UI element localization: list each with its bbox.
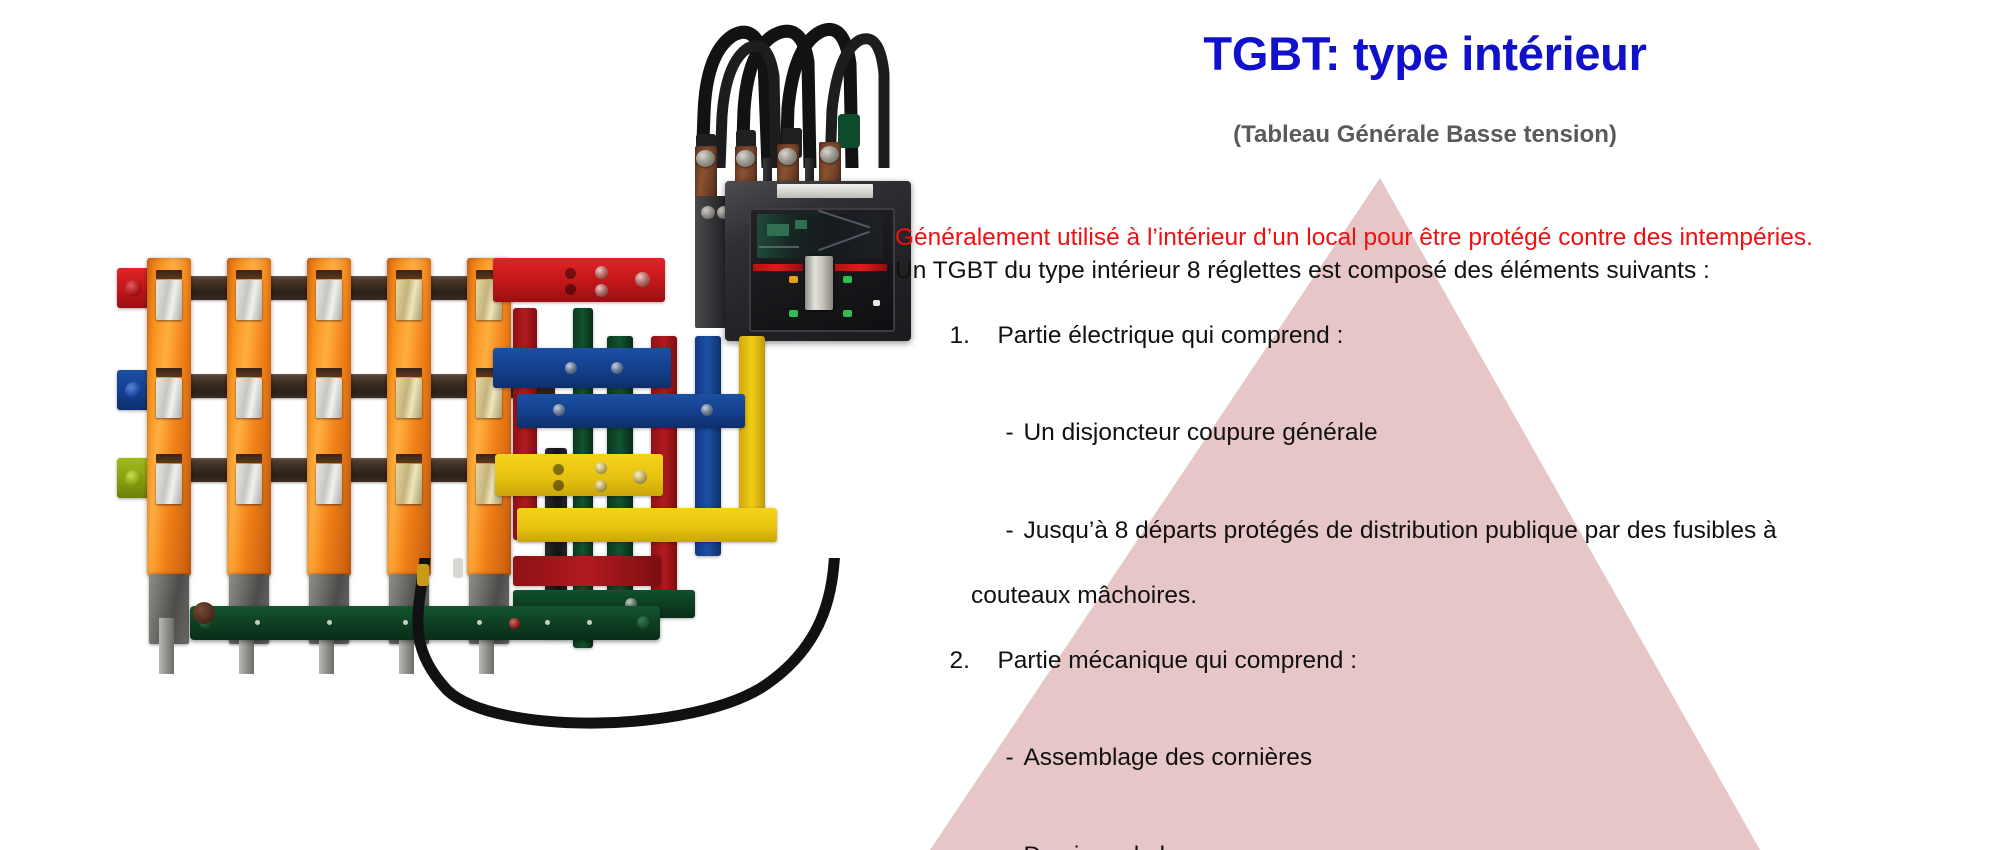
- body-sub-item-1b-continuation: couteaux mâchoires.: [895, 580, 1925, 613]
- hanging-cable-icon: [395, 558, 855, 738]
- fuse-clip: [236, 454, 262, 463]
- breaker-green-led: [843, 276, 852, 283]
- fuse-cartridge: [156, 464, 182, 504]
- fuse-clip: [156, 270, 182, 279]
- busbar-bolt: [565, 362, 577, 374]
- busbar-bolt: [553, 404, 565, 416]
- list-text: Jusqu’à 8 départs protégés de distributi…: [1023, 517, 1776, 544]
- busbar-bolt: [633, 470, 647, 484]
- breaker-trip-unit-label: [757, 214, 883, 258]
- fuse-cartridge: [316, 280, 342, 320]
- breaker-trace: [759, 246, 799, 248]
- phase-tab-green-yellow-knob: [125, 470, 142, 487]
- fuse-clip: [236, 368, 262, 377]
- breaker-green-led: [789, 310, 798, 317]
- text-column: TGBT: type intérieur (Tableau Générale B…: [880, 0, 1970, 850]
- list-text: Un disjoncteur coupure générale: [1023, 419, 1377, 446]
- fuse-clip: [316, 368, 342, 377]
- busbar-bolt: [611, 362, 623, 374]
- busbar-bolt: [595, 266, 608, 279]
- list-marker: -: [1005, 840, 1023, 850]
- page-subtitle: (Tableau Générale Basse tension): [880, 122, 1970, 148]
- list-marker: -: [1005, 417, 1023, 450]
- fuse-cartridge: [236, 378, 262, 418]
- fuse-cartridge: [396, 280, 422, 320]
- lug-bolt: [736, 150, 755, 167]
- fuse-cartridge: [396, 378, 422, 418]
- busbar-hole: [565, 284, 576, 295]
- busbar-bolt: [595, 480, 607, 492]
- fuse-clip: [316, 454, 342, 463]
- breaker-amber-led: [789, 276, 798, 283]
- fuse-cartridge: [316, 464, 342, 504]
- busbar-hole: [553, 464, 564, 475]
- horizontal-busbar-yellow-lower: [517, 508, 777, 542]
- busbar-hole: [565, 268, 576, 279]
- tgbt-panel-photo: [95, 18, 825, 738]
- body-sub-item-1a: -Un disjoncteur coupure générale: [895, 385, 1925, 483]
- terminal-tail: [159, 618, 174, 674]
- body-sub-item-1b: -Jusqu’à 8 départs protégés de distribut…: [895, 482, 1925, 580]
- busbar-bolt: [701, 404, 713, 416]
- lug-bolt: [778, 148, 797, 165]
- list-marker: -: [1005, 742, 1023, 775]
- breaker-side-bolt: [701, 206, 715, 219]
- list-marker: 1.: [963, 320, 997, 353]
- body-line-intro-red: Généralement utilisé à l’intérieur d’un …: [895, 222, 1925, 255]
- busbar-bolt: [595, 462, 607, 474]
- fuse-cartridge: [236, 464, 262, 504]
- page-title: TGBT: type intérieur: [880, 28, 1970, 80]
- list-marker: -: [1005, 515, 1023, 548]
- earth-insulator: [193, 602, 215, 624]
- fuse-cartridge: [156, 378, 182, 418]
- body-list-item-2: 2.Partie mécanique qui comprend :: [895, 612, 1925, 710]
- breaker-chip: [767, 224, 789, 236]
- body-list-item-1: 1.Partie électrique qui comprend :: [895, 287, 1925, 385]
- breaker-nameplate: [777, 184, 873, 198]
- earth-marker: [327, 620, 332, 625]
- phase-tab-blue-knob: [125, 382, 142, 399]
- breaker-green-led: [843, 310, 852, 317]
- breaker-toggle-handle[interactable]: [805, 256, 833, 310]
- body-line-intro: Un TGBT du type intérieur 8 réglettes es…: [895, 255, 1925, 288]
- fuse-clip: [396, 270, 422, 279]
- fuse-clip: [236, 270, 262, 279]
- list-marker: 2.: [963, 645, 997, 678]
- fuse-clip: [156, 368, 182, 377]
- fuse-clip: [396, 368, 422, 377]
- slide-canvas: TGBT: type intérieur (Tableau Générale B…: [0, 0, 2000, 850]
- fuse-cartridge: [316, 378, 342, 418]
- breaker-red-indicator-left: [753, 264, 803, 271]
- list-text: Des jeux de barre: [1023, 842, 1216, 850]
- breaker-chip: [795, 220, 807, 229]
- lug-bolt: [820, 146, 839, 163]
- fuse-clip: [156, 454, 182, 463]
- body-sub-item-2b: -Des jeux de barre: [895, 807, 1925, 850]
- list-text: Partie mécanique qui comprend :: [997, 647, 1357, 674]
- phase-tab-red-knob: [125, 280, 142, 297]
- breaker-white-led: [873, 300, 880, 306]
- vertical-busbar-yellow: [739, 336, 765, 524]
- earth-marker: [255, 620, 260, 625]
- busbar-bolt: [635, 272, 650, 287]
- fuse-cartridge: [156, 280, 182, 320]
- list-text: Partie électrique qui comprend :: [997, 322, 1343, 349]
- body-sub-item-2a: -Assemblage des cornières: [895, 710, 1925, 808]
- lug-bolt: [696, 150, 715, 167]
- busbar-bolt: [595, 284, 608, 297]
- fuse-clip: [396, 454, 422, 463]
- horizontal-busbar-blue-upper: [493, 348, 671, 388]
- body-content: Généralement utilisé à l’intérieur d’un …: [895, 222, 1925, 850]
- busbar-hole: [553, 480, 564, 491]
- fuse-cartridge: [396, 464, 422, 504]
- fuse-cartridge: [236, 280, 262, 320]
- fuse-clip: [316, 270, 342, 279]
- list-text: Assemblage des cornières: [1023, 744, 1312, 771]
